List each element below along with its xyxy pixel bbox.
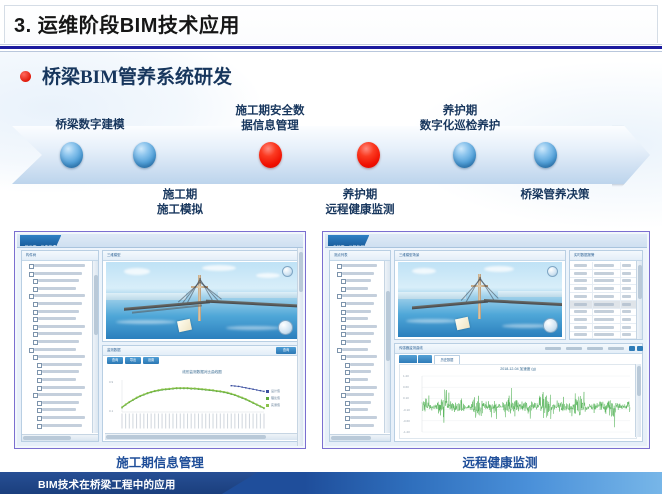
line-chart-left[interactable]: 线形监测数据对比曲线图 0.90.1 设计值理论值实测值 — [106, 368, 298, 434]
tree-item[interactable] — [42, 424, 82, 427]
table-column-divider — [592, 262, 593, 269]
y-tick-label: -0.10 — [403, 408, 410, 412]
tree-item[interactable] — [38, 317, 76, 320]
model-panel-left[interactable]: 三维模型 — [102, 250, 301, 342]
model-panel-header — [395, 251, 565, 261]
view-cube-icon[interactable] — [282, 266, 293, 277]
nav-wheel-icon[interactable] — [543, 318, 558, 333]
tree-item[interactable] — [350, 370, 371, 373]
screenshot-remote-health[interactable]: 养护期 · 远程监测 测点列表 三维模型场景 — [322, 231, 650, 449]
table-column-divider — [592, 285, 593, 292]
tree-item[interactable] — [350, 424, 374, 427]
chart-button-label: 查询 — [107, 357, 123, 364]
toolbar-button-2[interactable] — [566, 347, 582, 350]
page-title: 3. 运维阶段BIM技术应用 — [14, 9, 240, 38]
tree-item[interactable] — [350, 363, 374, 366]
y-tick-label: 1.20 — [403, 374, 409, 378]
tree-hscrollbar-left[interactable] — [22, 434, 98, 441]
legend-label: 设计值 — [271, 389, 280, 393]
scroll-thumb-h[interactable] — [106, 435, 266, 439]
model-panel-title: 三维模型场景 — [399, 252, 419, 257]
timeline-dot-2 — [133, 142, 156, 168]
subtab-realtime[interactable] — [399, 355, 417, 363]
table-row[interactable] — [570, 331, 642, 339]
table-cell-3 — [622, 303, 631, 306]
app-tab-left[interactable]: 施工期 · 信息管理 — [20, 235, 61, 246]
y-tick-label: 0.60 — [403, 385, 409, 389]
tree-item[interactable] — [42, 408, 76, 411]
table-column-divider — [592, 277, 593, 284]
table-column-divider — [620, 293, 621, 300]
tree-item[interactable] — [346, 302, 374, 305]
timeline-label-above-2: 施工期安全数 据信息管理 — [215, 104, 325, 134]
app-window-left: 施工期 · 信息管理 构件树 三维模型 — [17, 234, 303, 446]
tree-item[interactable] — [38, 302, 82, 305]
table-cell-2 — [594, 303, 614, 306]
chart-panel-header — [103, 346, 300, 356]
table-cell-2 — [594, 326, 614, 329]
timeline-dot-4 — [357, 142, 380, 168]
tree-item[interactable] — [42, 363, 82, 366]
scroll-thumb[interactable] — [638, 265, 642, 299]
table-column-divider — [620, 324, 621, 331]
toolbar-icon-button-1[interactable] — [629, 346, 635, 351]
table-column-divider — [620, 285, 621, 292]
scroll-thumb[interactable] — [94, 275, 98, 335]
table-cell-1 — [574, 272, 587, 275]
legend-label: 理论值 — [271, 396, 280, 400]
chart-button-3[interactable]: 设置 — [143, 357, 159, 364]
tree-item[interactable] — [346, 325, 377, 328]
chart-panel-title: 监测数据 — [107, 347, 121, 352]
table-panel-title: 实时数据报警 — [574, 252, 594, 257]
tree-item[interactable] — [42, 378, 76, 381]
table-cell-3 — [622, 318, 631, 321]
tree-item[interactable] — [42, 370, 79, 373]
table-cell-3 — [622, 264, 631, 267]
divider-thin-top — [0, 44, 662, 45]
tree-item[interactable] — [38, 287, 76, 290]
tree-item[interactable] — [346, 355, 377, 358]
view-cube-icon[interactable] — [547, 266, 558, 277]
table-column-divider — [592, 324, 593, 331]
timeline-dot-6 — [534, 142, 557, 168]
signal-scrollbar[interactable] — [635, 364, 641, 437]
tree-item[interactable] — [42, 416, 85, 419]
tree-item[interactable] — [34, 264, 85, 267]
tree-item[interactable] — [342, 272, 374, 275]
window-scrollbar-left[interactable] — [297, 248, 303, 446]
signal-canvas — [400, 365, 637, 439]
tree-panel-title: 测点列表 — [334, 252, 348, 257]
tree-item[interactable] — [34, 348, 76, 351]
table-cell-3 — [622, 279, 631, 282]
tree-item[interactable] — [346, 393, 374, 396]
tree-panel-left[interactable]: 构件树 — [21, 250, 99, 442]
app-tabbar-right: 养护期 · 远程监测 — [325, 234, 647, 248]
tree-item[interactable] — [346, 340, 371, 343]
svg-text:0.1: 0.1 — [109, 409, 114, 413]
nav-wheel-icon[interactable] — [278, 320, 293, 335]
tree-item[interactable] — [346, 279, 371, 282]
timeline-label-below-2: 养护期 远程健康监测 — [305, 188, 415, 218]
signal-panel-title: 传感器监测曲线 — [399, 345, 423, 350]
bullet-icon — [20, 71, 31, 82]
toolbar-icon-button-2[interactable] — [637, 346, 643, 351]
table-column-divider — [620, 301, 621, 308]
y-tick-label: 0.10 — [403, 396, 409, 400]
tree-item[interactable] — [38, 325, 85, 328]
tree-item[interactable] — [350, 401, 371, 404]
table-cell-1 — [574, 264, 587, 267]
table-column-divider — [592, 331, 593, 338]
scroll-thumb-h[interactable] — [23, 436, 71, 440]
tree-item[interactable] — [350, 386, 377, 389]
tree-item[interactable] — [34, 272, 82, 275]
timeline-label-above-3: 养护期 数字化巡检养护 — [395, 104, 525, 134]
table-cell-1 — [574, 310, 587, 313]
table-cell-2 — [594, 295, 614, 298]
tree-scrollbar-left[interactable] — [92, 261, 98, 433]
scroll-thumb-h[interactable] — [331, 436, 371, 440]
tree-item[interactable] — [38, 355, 85, 358]
legend-marker — [266, 390, 269, 393]
bridge-3d-scene-left[interactable] — [106, 262, 297, 339]
chart-button-label: 设置 — [143, 357, 159, 364]
tree-item[interactable] — [350, 378, 368, 381]
model-panel-right[interactable]: 三维模型场景 — [394, 250, 566, 340]
app-tab-right[interactable]: 养护期 · 远程监测 — [328, 235, 369, 246]
table-cell-3 — [622, 287, 631, 290]
table-cell-2 — [594, 279, 614, 282]
chart-action-label: 查询 — [276, 347, 296, 354]
tree-item[interactable] — [350, 416, 377, 419]
section-heading: 桥梁BIM管养系统研发 — [42, 62, 232, 89]
table-cell-3 — [622, 272, 631, 275]
tree-item[interactable] — [42, 386, 85, 389]
signal-panel-header — [395, 344, 642, 354]
tree-item[interactable] — [38, 393, 82, 396]
scroll-thumb[interactable] — [386, 291, 390, 361]
table-cell-2 — [594, 318, 614, 321]
tree-hscrollbar-right[interactable] — [330, 434, 390, 441]
app-tab-label: 施工期 · 信息管理 — [25, 245, 56, 249]
table-cell-2 — [594, 310, 614, 313]
toolbar-button-1[interactable] — [545, 347, 561, 350]
tree-item[interactable] — [38, 332, 82, 335]
table-cell-1 — [574, 326, 587, 329]
timeline-label-above-1: 桥梁数字建模 — [30, 118, 150, 133]
table-column-divider — [620, 277, 621, 284]
chart-canvas-left: 0.90.1 — [106, 368, 298, 434]
subtab-history[interactable] — [418, 355, 432, 363]
toolbar-button-3[interactable] — [587, 347, 603, 350]
legend-marker — [266, 404, 269, 407]
chart-hscrollbar-left[interactable] — [105, 433, 298, 440]
table-column-divider — [620, 308, 621, 315]
signal-chart[interactable]: 2018-12-04 加速度 (g) 1.200.600.10-0.10-0.6… — [399, 364, 637, 439]
legend-label: 实测值 — [271, 403, 280, 407]
tree-item[interactable] — [38, 279, 79, 282]
tree-item[interactable] — [42, 401, 79, 404]
legend-marker — [266, 397, 269, 400]
timeline-dot-5 — [453, 142, 476, 168]
tree-item[interactable] — [350, 408, 368, 411]
chart-button-2[interactable]: 导出 — [125, 357, 141, 364]
tree-panel-right[interactable]: 测点列表 — [329, 250, 391, 442]
table-scrollbar[interactable] — [636, 261, 642, 339]
table-column-divider — [592, 308, 593, 315]
table-column-divider — [620, 331, 621, 338]
tree-item[interactable] — [346, 317, 368, 320]
table-column-divider — [592, 301, 593, 308]
table-cell-3 — [622, 326, 631, 329]
table-cell-2 — [594, 272, 614, 275]
tree-item[interactable] — [342, 294, 377, 297]
app-tabbar-left: 施工期 · 信息管理 — [17, 234, 303, 248]
tree-item[interactable] — [346, 332, 374, 335]
svg-text:0.9: 0.9 — [109, 380, 114, 384]
tree-item[interactable] — [38, 340, 79, 343]
tree-item[interactable] — [342, 348, 368, 351]
table-column-divider — [620, 262, 621, 269]
subtab-active[interactable]: 历史数据 — [434, 355, 460, 364]
table-cell-1 — [574, 295, 587, 298]
y-tick-label: -0.60 — [403, 419, 410, 423]
table-column-divider — [620, 316, 621, 323]
chart-panel-left[interactable]: 监测数据 查询 查询导出设置 线形监测数据对比曲线图 0.90.1 设计值理论值… — [102, 345, 301, 442]
slide: 3. 运维阶段BIM技术应用 桥梁BIM管养系统研发 桥梁数字建模施工期安全数 … — [0, 0, 662, 494]
table-cell-1 — [574, 279, 587, 282]
tree-scrollbar-right[interactable] — [384, 261, 390, 433]
chart-button-1[interactable]: 查询 — [107, 357, 123, 364]
model-panel-title: 三维模型 — [107, 252, 121, 257]
tree-panel-title: 构件树 — [26, 252, 36, 257]
tree-item[interactable] — [342, 264, 377, 267]
timeline-dot-1 — [60, 142, 83, 168]
table-cell-3 — [622, 310, 631, 313]
chart-action-button[interactable]: 查询 — [276, 347, 296, 354]
table-column-divider — [592, 316, 593, 323]
table-cell-1 — [574, 287, 587, 290]
table-panel-right[interactable]: 实时数据报警 — [569, 250, 643, 340]
table-cell-3 — [622, 295, 631, 298]
caption-remote-health: 远程健康监测 — [400, 452, 600, 471]
table-column-divider — [620, 270, 621, 277]
table-cell-2 — [594, 264, 614, 267]
chart-button-label: 导出 — [125, 357, 141, 364]
divider-bold — [0, 46, 662, 49]
footer-text: BIM技术在桥梁工程中的应用 — [38, 477, 176, 492]
toolbar-button-4[interactable] — [608, 347, 624, 350]
timeline-dot-3 — [259, 142, 282, 168]
bridge-3d-scene-right[interactable] — [398, 262, 562, 337]
table-cell-2 — [594, 333, 614, 336]
tree-item[interactable] — [38, 310, 79, 313]
timeline-label-below-1: 施工期 施工模拟 — [130, 188, 230, 218]
table-cell-1 — [574, 333, 587, 336]
scroll-thumb[interactable] — [299, 252, 303, 292]
table-column-divider — [592, 270, 593, 277]
table-cell-1 — [574, 318, 587, 321]
table-cell-2 — [594, 287, 614, 290]
app-tab-label: 养护期 · 远程监测 — [333, 245, 364, 249]
table-column-divider — [592, 293, 593, 300]
tree-item[interactable] — [34, 294, 85, 297]
y-tick-label: -1.20 — [403, 430, 410, 434]
app-window-right: 养护期 · 远程监测 测点列表 三维模型场景 — [325, 234, 647, 446]
timeline-label-below-3: 桥梁管养决策 — [495, 188, 615, 203]
divider-thin-bottom — [0, 51, 662, 52]
model-panel-header — [103, 251, 300, 261]
tree-item[interactable] — [346, 287, 368, 290]
scroll-thumb[interactable] — [637, 366, 641, 396]
caption-construction-info: 施工期信息管理 — [60, 452, 260, 471]
table-cell-3 — [622, 333, 631, 336]
tree-item[interactable] — [346, 310, 371, 313]
screenshot-construction-info[interactable]: 施工期 · 信息管理 构件树 三维模型 — [14, 231, 306, 449]
signal-panel-right[interactable]: 传感器监测曲线 历史数据 2018-12-04 加速度 (g) 1.200.60… — [394, 343, 643, 442]
subtab-active-label: 历史数据 — [435, 356, 459, 364]
table-cell-1 — [574, 303, 587, 306]
